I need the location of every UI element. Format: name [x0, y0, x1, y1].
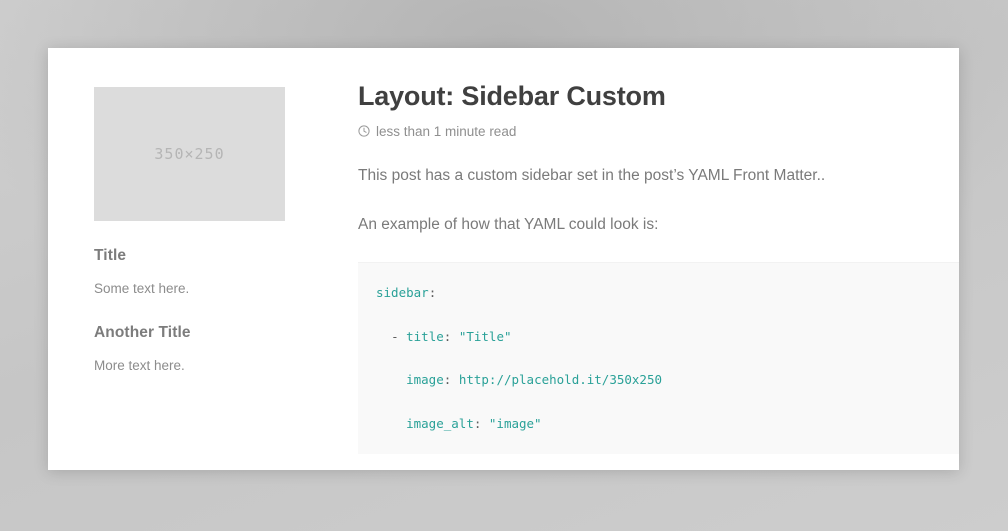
code-line: sidebar:	[376, 282, 959, 304]
code-list-dash: -	[391, 329, 406, 344]
placeholder-dimensions-label: 350×250	[154, 145, 224, 163]
code-colon: :	[429, 285, 437, 300]
code-key: title	[406, 329, 444, 344]
code-key: sidebar	[376, 285, 429, 300]
read-time-label: less than 1 minute read	[376, 124, 516, 139]
page-title: Layout: Sidebar Custom	[358, 81, 959, 113]
code-indent	[376, 329, 391, 344]
sidebar-text-title: Some text here.	[94, 279, 286, 299]
code-url-value: http://placehold.it/350x250	[459, 372, 662, 387]
post-content: Layout: Sidebar Custom less than 1 minut…	[358, 81, 959, 236]
code-colon: :	[474, 416, 489, 431]
code-indent	[376, 372, 406, 387]
sidebar-heading-another-title: Another Title	[94, 324, 286, 342]
post-paragraph-1: This post has a custom sidebar set in th…	[358, 164, 959, 187]
code-string-value: "image"	[489, 416, 542, 431]
sidebar-block-another-title: Another Title More text here.	[94, 324, 286, 376]
sidebar-image-placeholder: 350×250	[94, 87, 285, 221]
sidebar-block-title: Title Some text here.	[94, 247, 286, 299]
code-line: image: http://placehold.it/350x250	[376, 369, 959, 391]
sidebar-text-another-title: More text here.	[94, 356, 286, 376]
code-key: image	[406, 372, 444, 387]
code-content: sidebar: - title: "Title" image: http://…	[358, 263, 959, 454]
post-paragraph-2: An example of how that YAML could look i…	[358, 213, 959, 236]
sidebar-heading-title: Title	[94, 247, 286, 265]
code-line: image_alt: "image"	[376, 413, 959, 435]
post-card: 350×250 Title Some text here. Another Ti…	[48, 48, 959, 470]
code-lines: sidebar: - title: "Title" image: http://…	[376, 282, 959, 454]
post-meta: less than 1 minute read	[358, 124, 959, 139]
code-line: - title: "Title"	[376, 326, 959, 348]
custom-sidebar: 350×250 Title Some text here. Another Ti…	[94, 87, 286, 377]
code-key: image_alt	[406, 416, 474, 431]
clock-icon	[358, 125, 370, 137]
code-string-value: "Title"	[459, 329, 512, 344]
yaml-code-block[interactable]: sidebar: - title: "Title" image: http://…	[358, 262, 959, 454]
code-colon: :	[444, 329, 459, 344]
code-indent	[376, 416, 406, 431]
code-colon: :	[444, 372, 459, 387]
